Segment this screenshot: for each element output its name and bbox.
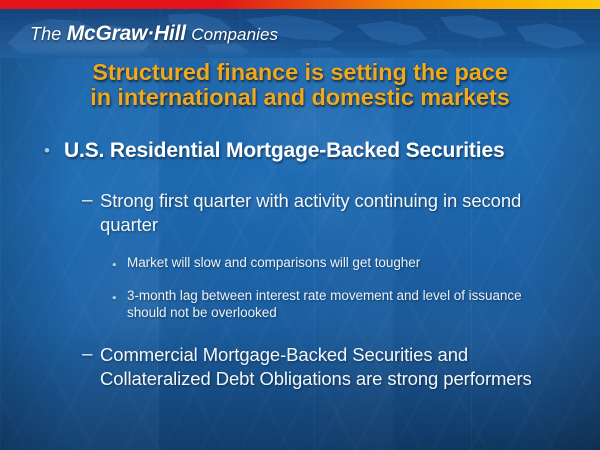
slide-title: Structured finance is setting the pace i… bbox=[26, 60, 574, 110]
bullet-marker-dash-icon: – bbox=[82, 189, 100, 213]
logo-word-name: McGraw·Hill bbox=[67, 22, 186, 45]
logo-word-the: The bbox=[30, 24, 61, 44]
slide-body: • U.S. Residential Mortgage-Backed Secur… bbox=[0, 138, 600, 401]
bullet-marker-small-dot-icon: • bbox=[112, 288, 127, 307]
bullet-marker-dot-icon: • bbox=[44, 138, 64, 163]
bullet-level1-text: U.S. Residential Mortgage-Backed Securit… bbox=[64, 138, 505, 163]
spacer bbox=[0, 280, 600, 288]
spacer bbox=[0, 247, 600, 255]
bullet-level3-market-slow: • Market will slow and comparisons will … bbox=[0, 255, 600, 274]
logo-word-companies: Companies bbox=[191, 25, 278, 44]
bullet-marker-dash-icon: – bbox=[82, 343, 100, 367]
bullet-level2-strong-quarter: – Strong first quarter with activity con… bbox=[0, 189, 600, 237]
mcgraw-hill-logo: The McGraw·Hill Companies bbox=[30, 22, 278, 46]
top-accent-bar bbox=[0, 0, 600, 9]
slide-title-line-2: in international and domestic markets bbox=[26, 85, 574, 110]
bullet-level2-text: Commercial Mortgage-Backed Securities an… bbox=[100, 343, 566, 391]
presentation-slide: The McGraw·Hill Companies Structured fin… bbox=[0, 0, 600, 450]
bullet-level3-text: Market will slow and comparisons will ge… bbox=[127, 255, 420, 272]
spacer bbox=[0, 327, 600, 343]
slide-title-line-1: Structured finance is setting the pace bbox=[26, 60, 574, 85]
header-fade bbox=[0, 48, 600, 58]
bullet-level2-cmbs-cdo: – Commercial Mortgage-Backed Securities … bbox=[0, 343, 600, 391]
spacer bbox=[0, 177, 600, 189]
bullet-marker-small-dot-icon: • bbox=[112, 255, 127, 274]
bullet-level2-text: Strong first quarter with activity conti… bbox=[100, 189, 566, 237]
bullet-level3-three-month-lag: • 3-month lag between interest rate move… bbox=[0, 288, 600, 321]
bullet-level3-text: 3-month lag between interest rate moveme… bbox=[127, 288, 560, 321]
bullet-level1-rmbs: • U.S. Residential Mortgage-Backed Secur… bbox=[0, 138, 600, 163]
